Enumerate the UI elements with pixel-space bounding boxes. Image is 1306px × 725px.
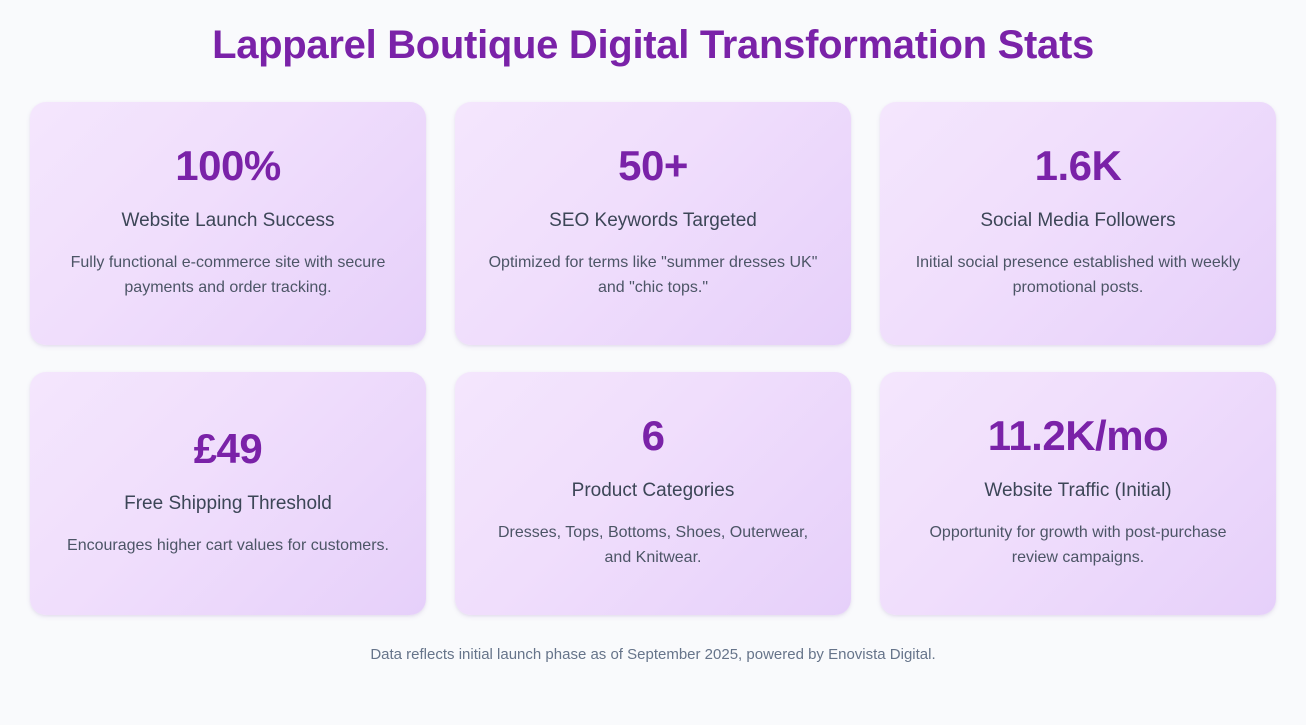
stat-card: £49 Free Shipping Threshold Encourages h… [30, 372, 426, 615]
stat-value: 100% [175, 141, 280, 191]
footer-note: Data reflects initial launch phase as of… [370, 645, 935, 665]
stat-description: Opportunity for growth with post-purchas… [913, 520, 1243, 570]
stats-grid: 100% Website Launch Success Fully functi… [30, 102, 1276, 615]
stats-page: Lapparel Boutique Digital Transformation… [0, 0, 1306, 725]
stat-description: Initial social presence established with… [913, 250, 1243, 300]
stat-description: Optimized for terms like "summer dresses… [488, 250, 818, 300]
stat-label: Website Launch Success [122, 209, 335, 233]
stat-label: SEO Keywords Targeted [549, 209, 757, 233]
stat-label: Website Traffic (Initial) [984, 479, 1171, 503]
stat-description: Encourages higher cart values for custom… [67, 533, 389, 558]
stat-label: Social Media Followers [980, 209, 1175, 233]
stat-value: 50+ [618, 141, 688, 191]
stat-card: 100% Website Launch Success Fully functi… [30, 102, 426, 345]
stat-card: 1.6K Social Media Followers Initial soci… [880, 102, 1276, 345]
stat-card: 6 Product Categories Dresses, Tops, Bott… [455, 372, 851, 615]
stat-label: Free Shipping Threshold [124, 492, 332, 516]
stat-value: £49 [194, 424, 263, 474]
stat-label: Product Categories [572, 479, 735, 503]
stat-value: 11.2K/mo [988, 411, 1168, 461]
stat-description: Dresses, Tops, Bottoms, Shoes, Outerwear… [488, 520, 818, 570]
page-title: Lapparel Boutique Digital Transformation… [212, 0, 1094, 70]
stat-card: 50+ SEO Keywords Targeted Optimized for … [455, 102, 851, 345]
stat-value: 6 [642, 411, 665, 461]
stat-card: 11.2K/mo Website Traffic (Initial) Oppor… [880, 372, 1276, 615]
stat-value: 1.6K [1035, 141, 1122, 191]
stat-description: Fully functional e-commerce site with se… [63, 250, 393, 300]
